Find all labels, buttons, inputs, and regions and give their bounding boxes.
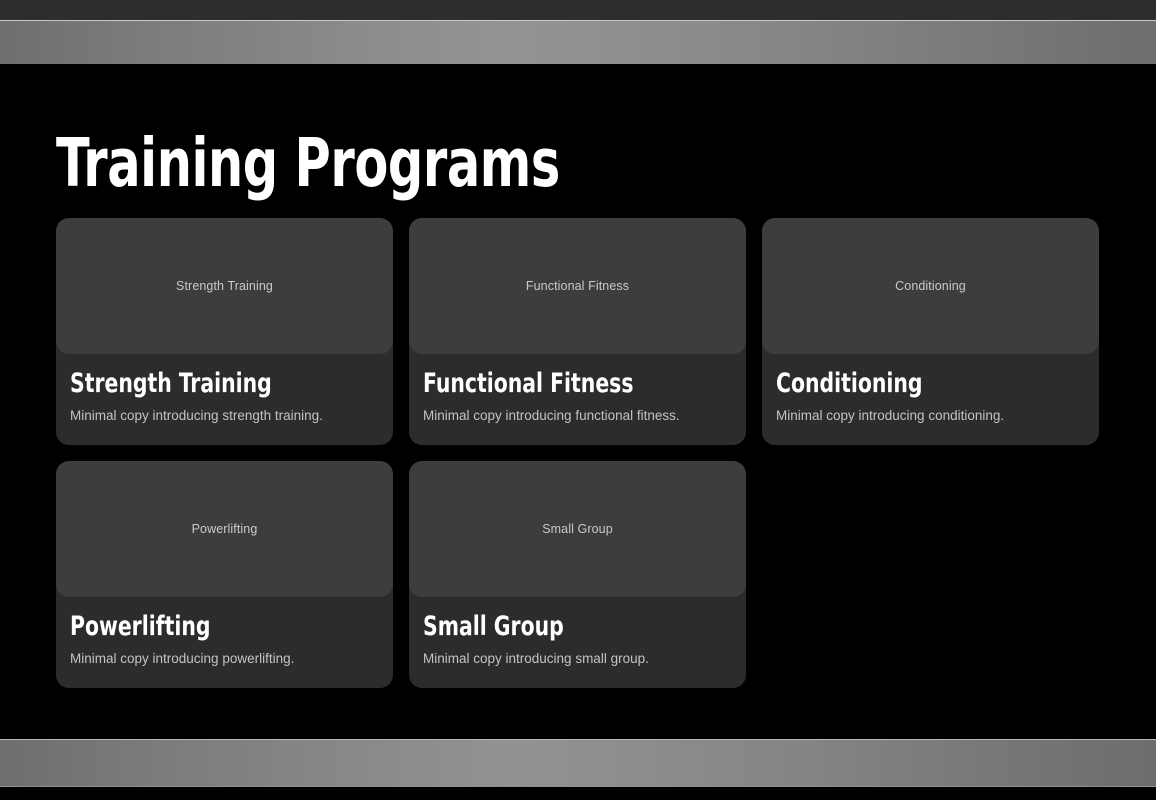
card-media-label: Powerlifting [192,522,258,536]
page-title: Training Programs [56,64,912,197]
program-card[interactable]: Powerlifting Powerlifting Minimal copy i… [56,461,393,688]
card-description: Minimal copy introducing small group. [423,650,732,668]
card-body: Conditioning Minimal copy introducing co… [762,354,1099,445]
program-card-grid: Strength Training Strength Training Mini… [56,218,1100,688]
card-media-placeholder: Powerlifting [56,461,393,597]
card-body: Strength Training Minimal copy introduci… [56,354,393,445]
card-description: Minimal copy introducing conditioning. [776,407,1085,425]
page-content: Training Programs Strength Training Stre… [0,64,1156,739]
card-media-label: Conditioning [895,279,966,293]
program-card[interactable]: Conditioning Conditioning Minimal copy i… [762,218,1099,445]
program-card[interactable]: Strength Training Strength Training Mini… [56,218,393,445]
content-container: Training Programs Strength Training Stre… [56,64,1100,688]
card-title: Small Group [423,613,683,641]
card-media-placeholder: Conditioning [762,218,1099,354]
program-card[interactable]: Functional Fitness Functional Fitness Mi… [409,218,746,445]
card-media-label: Small Group [542,522,613,536]
card-description: Minimal copy introducing functional fitn… [423,407,732,425]
card-title: Strength Training [70,370,330,398]
card-body: Functional Fitness Minimal copy introduc… [409,354,746,445]
card-media-label: Strength Training [176,279,273,293]
bottom-toolbar[interactable] [0,739,1156,787]
card-body: Small Group Minimal copy introducing sma… [409,597,746,688]
card-title: Conditioning [776,370,1036,398]
card-description: Minimal copy introducing powerlifting. [70,650,379,668]
card-title: Powerlifting [70,613,330,641]
card-media-placeholder: Functional Fitness [409,218,746,354]
card-title: Functional Fitness [423,370,683,398]
window-chrome-strip [0,0,1156,20]
card-media-placeholder: Strength Training [56,218,393,354]
card-media-placeholder: Small Group [409,461,746,597]
card-body: Powerlifting Minimal copy introducing po… [56,597,393,688]
card-description: Minimal copy introducing strength traini… [70,407,379,425]
top-toolbar[interactable] [0,20,1156,64]
program-card[interactable]: Small Group Small Group Minimal copy int… [409,461,746,688]
card-media-label: Functional Fitness [526,279,629,293]
